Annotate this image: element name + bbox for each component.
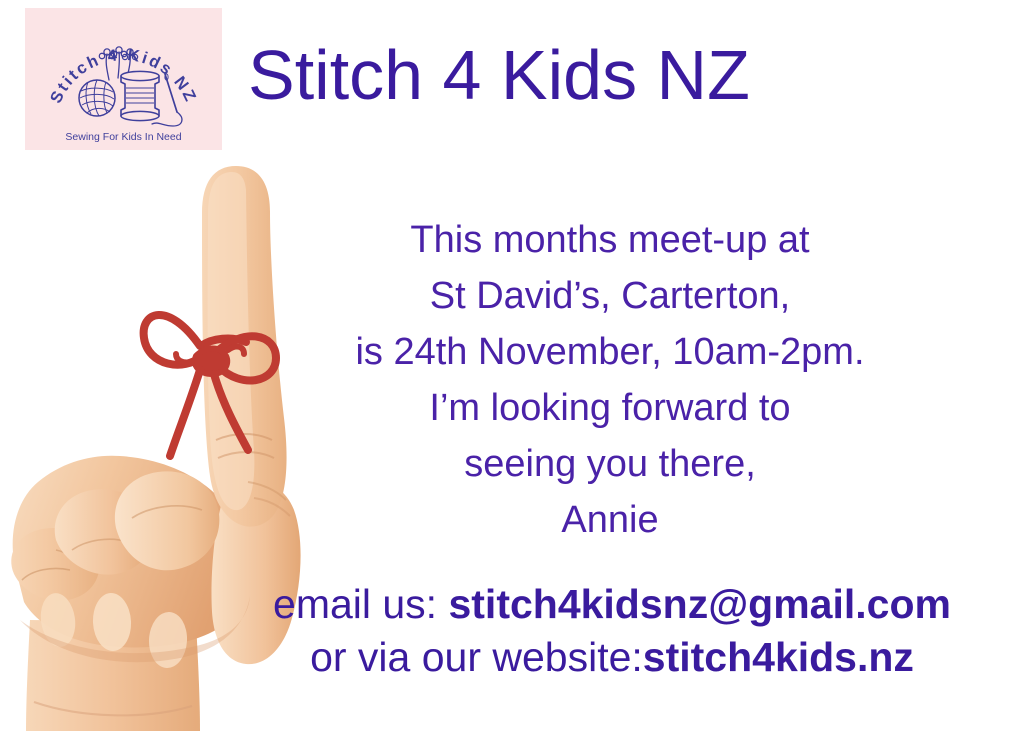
page-title: Stitch 4 Kids NZ	[248, 33, 848, 117]
poster-canvas: Stitch 4 Kids NZ	[0, 0, 1024, 731]
message-block: This months meet-up at St David’s, Carte…	[300, 212, 920, 548]
website-label: or via our website:	[310, 634, 643, 680]
thread-spool-icon	[121, 71, 159, 120]
message-line-3: is 24th November, 10am-2pm.	[300, 324, 920, 380]
website-address[interactable]: stitch4kids.nz	[643, 634, 914, 680]
logo-badge: Stitch 4 Kids NZ	[25, 8, 222, 150]
email-label: email us:	[273, 581, 448, 627]
website-line: or via our website:stitch4kids.nz	[232, 631, 992, 684]
message-line-4: I’m looking forward to	[300, 380, 920, 436]
contact-block: email us: stitch4kidsnz@gmail.com or via…	[232, 578, 992, 684]
message-line-1: This months meet-up at	[300, 212, 920, 268]
email-address[interactable]: stitch4kidsnz@gmail.com	[448, 581, 951, 627]
message-signature: Annie	[300, 492, 920, 548]
logo-tagline: Sewing For Kids In Need	[65, 131, 181, 143]
logo-graphic: Stitch 4 Kids NZ	[25, 8, 222, 150]
email-line: email us: stitch4kidsnz@gmail.com	[232, 578, 992, 631]
message-line-5: seeing you there,	[300, 436, 920, 492]
message-line-2: St David’s, Carterton,	[300, 268, 920, 324]
